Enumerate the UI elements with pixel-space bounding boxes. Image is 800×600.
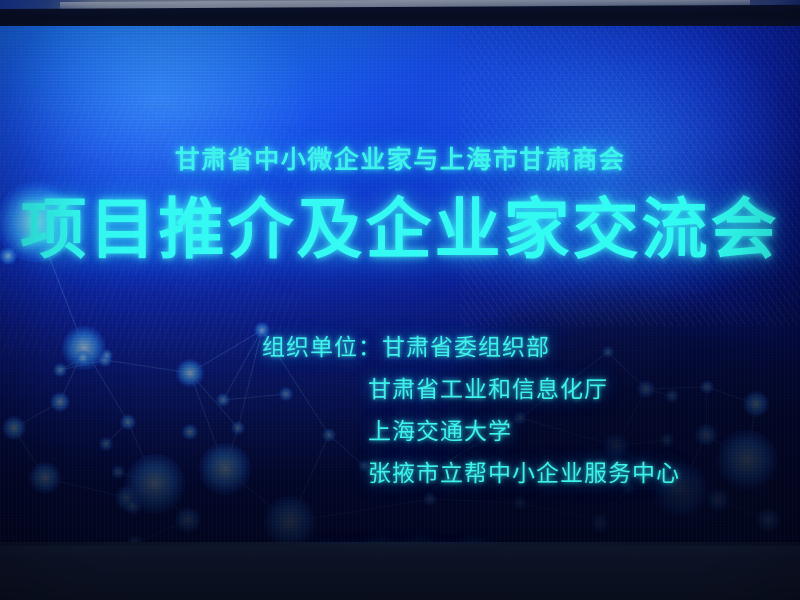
organizer-line-2: 甘肃省工业和信息化厅 bbox=[262, 368, 742, 410]
organizer-line-1: 组织单位：甘肃省委组织部 bbox=[262, 326, 742, 368]
organizer-line-4: 张掖市立帮中小企业服务中心 bbox=[262, 452, 742, 494]
organizer-block: 组织单位：甘肃省委组织部 甘肃省工业和信息化厅 上海交通大学 张掖市立帮中小企业… bbox=[262, 326, 742, 494]
slide-title: 项目推介及企业家交流会 bbox=[0, 194, 800, 265]
organizer-value-1: 甘肃省委组织部 bbox=[382, 334, 550, 360]
led-presentation-screen: 甘肃省中小微企业家与上海市甘肃商会 项目推介及企业家交流会 组织单位：甘肃省委组… bbox=[0, 26, 800, 548]
slide-subtitle: 甘肃省中小微企业家与上海市甘肃商会 bbox=[0, 140, 800, 176]
organizer-line-3: 上海交通大学 bbox=[262, 410, 742, 452]
organizer-label: 组织单位： bbox=[262, 334, 382, 360]
screen-bezel-bottom bbox=[0, 542, 800, 600]
photo-canvas: 甘肃省中小微企业家与上海市甘肃商会 项目推介及企业家交流会 组织单位：甘肃省委组… bbox=[0, 0, 800, 600]
